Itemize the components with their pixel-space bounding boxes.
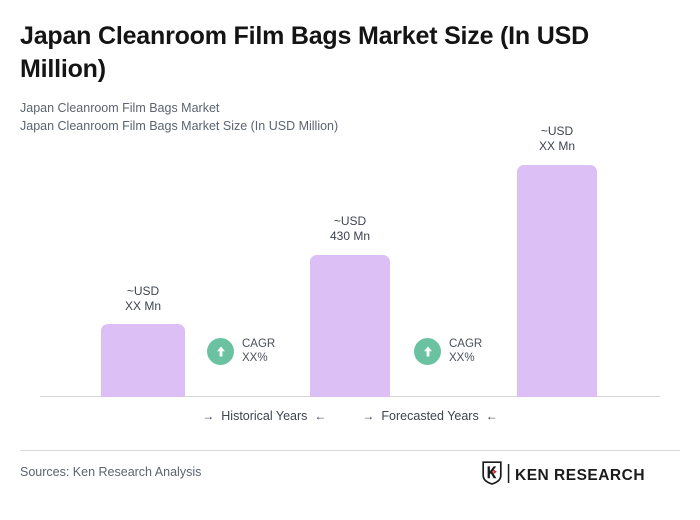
cagr-badge-forecast: CAGR XX% [414,337,482,365]
subtitle-market-name: Japan Cleanroom Film Bags Market [20,99,640,117]
arrow-up-icon [414,338,441,365]
ken-research-logo: KEN RESEARCH [482,461,645,490]
legend-item-forecasted-years: → Forecasted Years ← [362,409,497,423]
cagr-badge-historical: CAGR XX% [207,337,275,365]
arrow-right-icon: → [202,409,214,423]
bar-label-historical-1: ~USD XX Mn [101,284,185,313]
logo-wordmark: KEN RESEARCH [515,468,645,484]
legend-item-historical-years: → Historical Years ← [202,409,326,423]
cagr-label-forecast: CAGR XX% [449,337,482,365]
sources-text: Sources: Ken Research Analysis [20,465,201,479]
footer-divider [20,450,680,451]
arrow-left-icon: ← [486,409,498,423]
bar-historical-2 [310,255,390,397]
logo-divider-bar [507,464,510,488]
chart-page: Japan Cleanroom Film Bags Market Size (I… [0,0,700,520]
ken-research-shield-icon [482,461,502,490]
legend-label-historical-years: Historical Years [221,409,307,423]
bar-label-forecast-1: ~USD XX Mn [517,124,597,153]
legend-label-forecasted-years: Forecasted Years [381,409,478,423]
bar-historical-1 [101,324,185,397]
arrow-left-icon: ← [314,409,326,423]
chart-plot-area: ~USD XX Mn ~USD 430 Mn ~USD XX Mn CAGR X… [0,150,700,398]
arrow-up-icon [207,338,234,365]
arrow-right-icon: → [362,409,374,423]
bar-forecast-1 [517,165,597,397]
page-title: Japan Cleanroom Film Bags Market Size (I… [20,20,650,86]
chart-legend: → Historical Years ← → Forecasted Years … [0,409,700,423]
bar-label-historical-2: ~USD 430 Mn [310,214,390,243]
cagr-label-historical: CAGR XX% [242,337,275,365]
